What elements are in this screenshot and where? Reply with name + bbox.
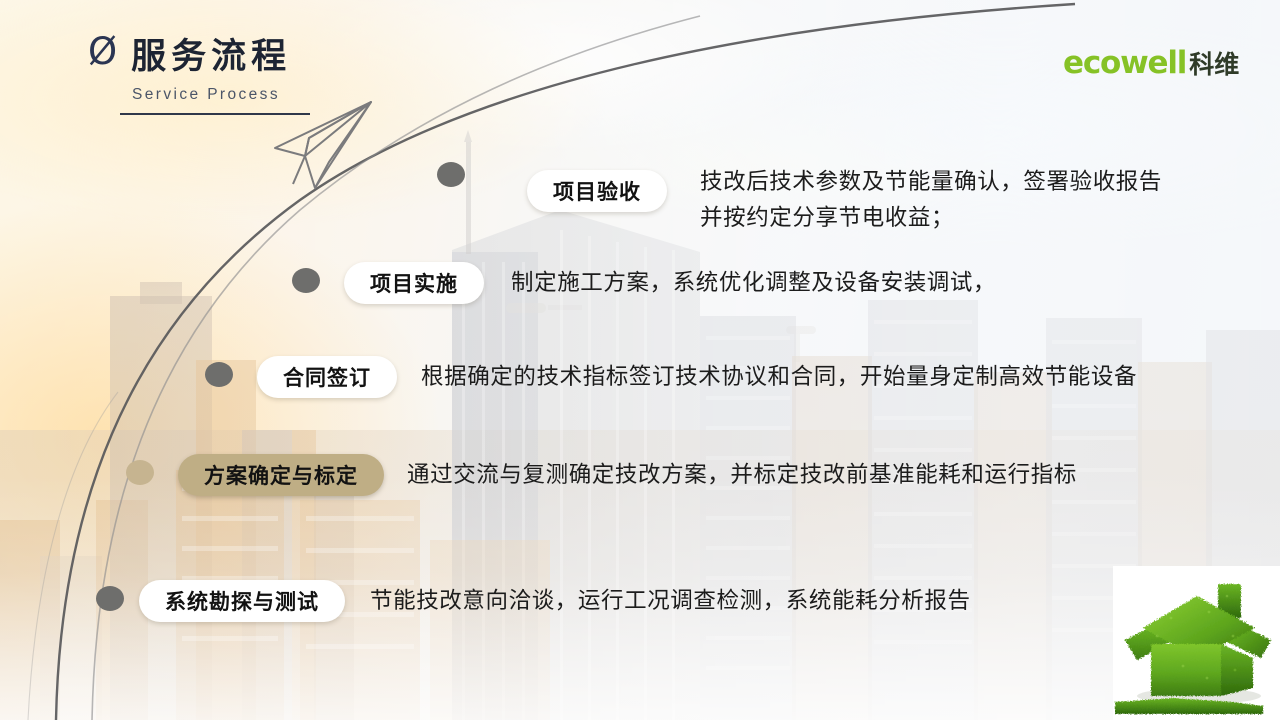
slide-canvas: Ø 服务流程 Service Process ecowell 科维 项目验收 技… (0, 0, 1280, 720)
timeline-node-dot (126, 460, 154, 485)
slashed-circle-icon: Ø (88, 33, 117, 70)
flow-step-contract-signing[interactable]: 合同签订 根据确定的技术指标签订技术协议和合同，开始量身定制高效节能设备 (205, 356, 1137, 398)
flow-step-project-implementation[interactable]: 项目实施 制定施工方案，系统优化调整及设备安装调试， (292, 262, 996, 304)
ecowell-logo: ecowell 科维 (1063, 45, 1239, 81)
flow-step-label[interactable]: 方案确定与标定 (178, 454, 384, 496)
slide-heading: Ø 服务流程 Service Process (88, 28, 310, 115)
flow-step-system-survey[interactable]: 系统勘探与测试 节能技改意向洽谈，运行工况调查检测，系统能耗分析报告 (96, 580, 971, 622)
flow-step-label[interactable]: 项目实施 (344, 262, 484, 304)
green-house-image (1113, 566, 1280, 720)
flow-step-label[interactable]: 系统勘探与测试 (139, 580, 345, 622)
heading-divider (120, 113, 310, 115)
timeline-node-dot (96, 586, 124, 611)
logo-brand-cn: 科维 (1189, 45, 1239, 81)
flow-step-label[interactable]: 项目验收 (527, 170, 667, 212)
flow-step-plan-confirmation[interactable]: 方案确定与标定 通过交流与复测确定技改方案，并标定技改前基准能耗和运行指标 (126, 454, 1077, 496)
flow-step-description: 节能技改意向洽谈，运行工况调查检测，系统能耗分析报告 (370, 583, 971, 619)
page-title: 服务流程 (131, 28, 291, 79)
logo-brand-latin: ecowell (1063, 45, 1186, 81)
flow-step-label[interactable]: 合同签订 (257, 356, 397, 398)
timeline-node-dot (205, 362, 233, 387)
flow-step-description: 根据确定的技术指标签订技术协议和合同，开始量身定制高效节能设备 (421, 359, 1137, 395)
flow-step-project-acceptance[interactable]: 项目验收 技改后技术参数及节能量确认，签署验收报告 并按约定分享节电收益； (437, 155, 1162, 228)
flow-step-description: 通过交流与复测确定技改方案，并标定技改前基准能耗和运行指标 (407, 457, 1077, 493)
flow-step-description: 技改后技术参数及节能量确认，签署验收报告 并按约定分享节电收益； (700, 164, 1162, 237)
page-subtitle: Service Process (132, 86, 310, 104)
timeline-node-dot (292, 268, 320, 293)
timeline-node-dot (437, 162, 465, 187)
flow-step-description: 制定施工方案，系统优化调整及设备安装调试， (511, 265, 996, 301)
